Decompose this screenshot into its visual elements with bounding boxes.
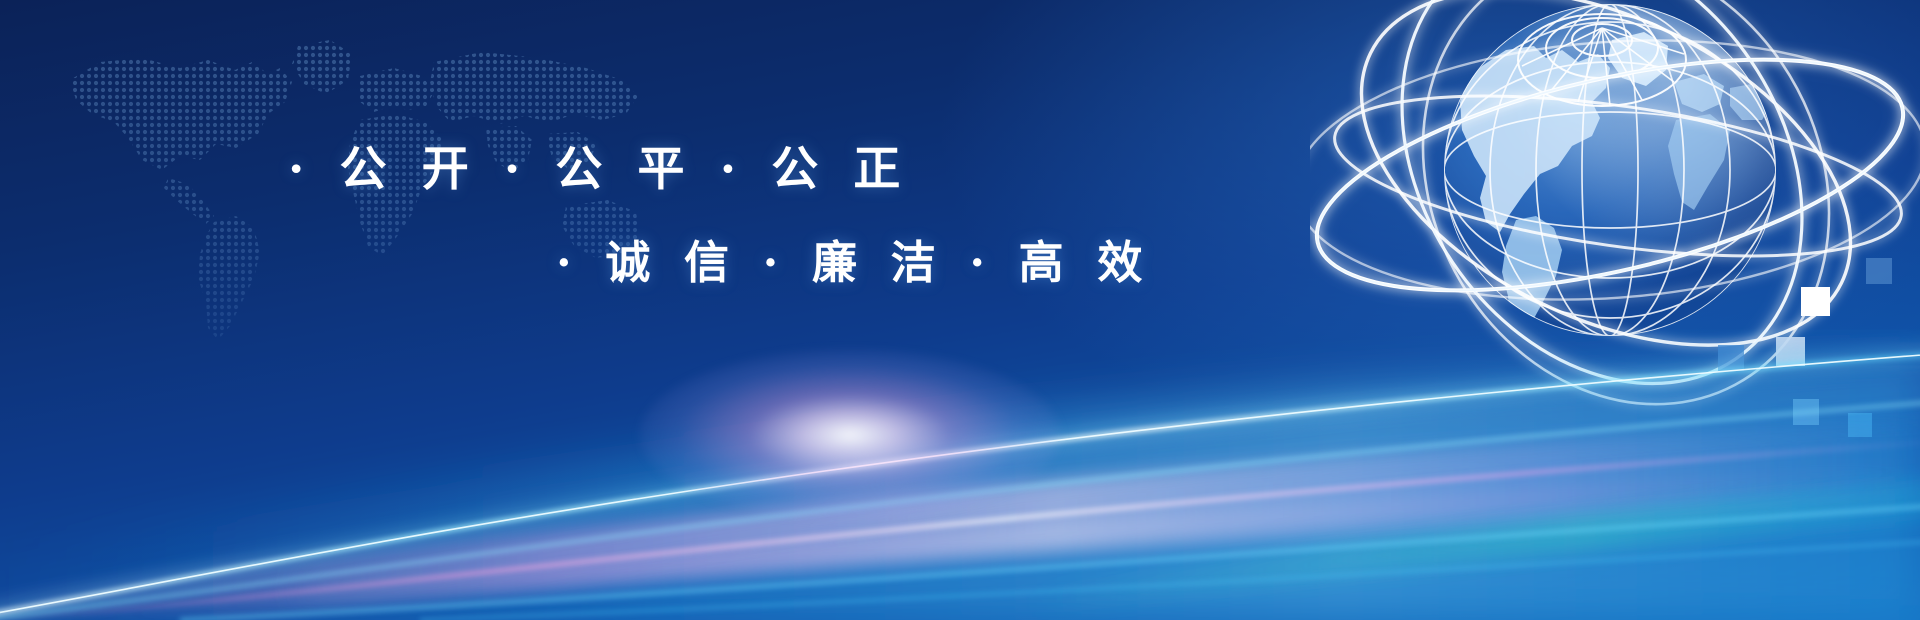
decor-square-blue-light	[1793, 399, 1819, 425]
decor-square-white	[1801, 287, 1830, 316]
light-hotspot	[640, 350, 1060, 520]
slogan-line-1: · 公 开 · 公 平 · 公 正	[288, 146, 910, 193]
light-streak-wave	[0, 290, 1920, 620]
decor-square-faint-top	[1866, 258, 1892, 284]
banner-root: · 公 开 · 公 平 · 公 正 · 诚 信 · 廉 洁 · 高 效	[0, 0, 1920, 620]
decor-square-pale	[1776, 337, 1805, 366]
slogan-line-2: · 诚 信 · 廉 洁 · 高 效	[556, 240, 1151, 285]
wireframe-globe	[1310, 0, 1920, 440]
decor-square-blue-deep	[1848, 413, 1872, 437]
decor-square-blue-mid	[1718, 345, 1744, 371]
